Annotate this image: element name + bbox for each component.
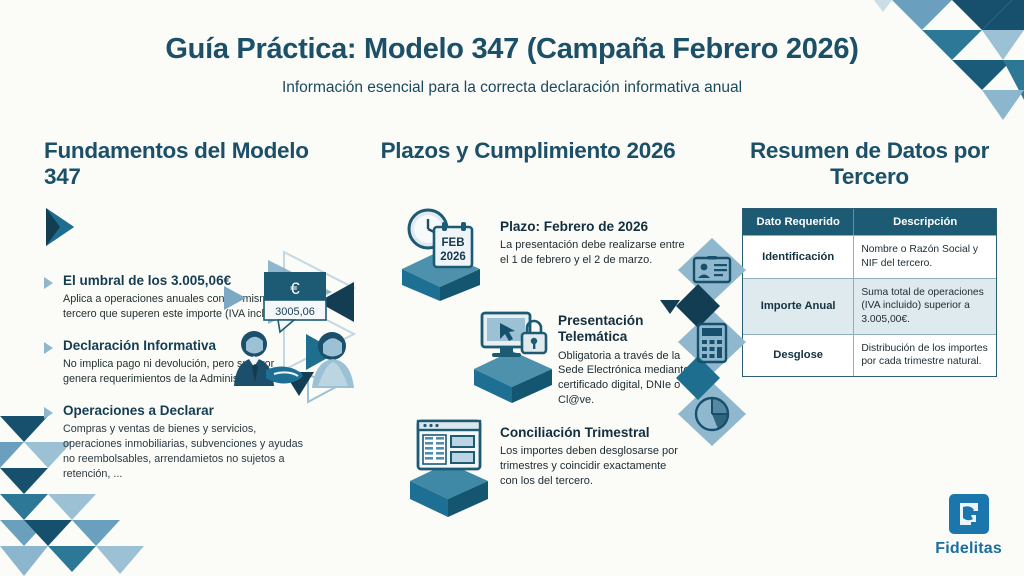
triangle-bullet-icon [44, 407, 53, 419]
table-cell-label: Identificación [743, 236, 854, 277]
list-item-title: Declaración Informativa [63, 338, 309, 354]
middle-item-telematica: Presentación Telemática Obligatoria a tr… [478, 305, 698, 408]
middle-item-plazo: FEB 2026 Plazo: Febrero de 2026 La prese… [400, 205, 696, 301]
calendar-clock-icon: FEB 2026 [400, 205, 492, 301]
svg-text:2026: 2026 [440, 251, 466, 263]
middle-item-title: Presentación Telemática [558, 313, 698, 346]
summary-table: Dato Requerido Descripción Identificació… [742, 208, 997, 377]
column-fundamentos: Fundamentos del Modelo 347 El umbral de … [44, 138, 309, 498]
brand-logo: Fidelitas [935, 494, 1002, 558]
list-item: El umbral de los 3.005,06€ Aplica a oper… [44, 273, 309, 322]
list-item-body: No implica pago ni devolución, pero su e… [63, 357, 309, 387]
list-item-body: Aplica a operaciones anuales con un mism… [63, 292, 309, 322]
table-cell-label: Desglose [743, 335, 854, 376]
column-heading-middle: Plazos y Cumplimiento 2026 [378, 138, 678, 164]
column-resumen: Resumen de Datos por Tercero Dato Requer… [742, 138, 997, 377]
page-title: Guía Práctica: Modelo 347 (Campaña Febre… [0, 34, 1024, 66]
column-heading-right: Resumen de Datos por Tercero [742, 138, 997, 190]
spreadsheet-illustration [400, 413, 500, 524]
table-header-row: Dato Requerido Descripción [743, 209, 996, 235]
table-row: Desglose Distribución de los importes po… [743, 334, 996, 376]
decorative-play-arrow [46, 206, 309, 253]
table-cell-description: Nombre o Razón Social y NIF del tercero. [854, 236, 996, 277]
list-item-body: Compras y ventas de bienes y servicios, … [63, 422, 309, 482]
table-cell-description: Suma total de operaciones (IVA incluido)… [854, 279, 996, 334]
play-arrow-icon [46, 206, 94, 248]
table-header-dato: Dato Requerido [743, 209, 854, 235]
table-row: Importe Anual Suma total de operaciones … [743, 278, 996, 334]
fidelitas-monogram-icon [949, 494, 989, 534]
middle-item-body: Obligatoria a través de la Sede Electrón… [558, 349, 698, 408]
list-item: Declaración Informativa No implica pago … [44, 338, 309, 387]
svg-text:FEB: FEB [442, 237, 465, 249]
page-subtitle: Información esencial para la correcta de… [0, 79, 1024, 97]
bullet-list-left: El umbral de los 3.005,06€ Aplica a oper… [44, 273, 309, 482]
column-plazos: Plazos y Cumplimiento 2026 [378, 138, 678, 164]
middle-item-conciliacion: Conciliación Trimestral Los importes deb… [500, 425, 686, 489]
middle-item-body: La presentación debe realizarse entre el… [500, 238, 696, 268]
brand-name: Fidelitas [935, 540, 1002, 558]
logo-glyph [954, 499, 984, 529]
column-heading-left: Fundamentos del Modelo 347 [44, 138, 309, 190]
list-item-title: El umbral de los 3.005,06€ [63, 273, 309, 289]
table-header-descripcion: Descripción [854, 209, 996, 235]
table-cell-description: Distribución de los importes por cada tr… [854, 335, 996, 376]
middle-item-body: Los importes deben desglosarse por trime… [500, 444, 686, 489]
middle-item-title: Plazo: Febrero de 2026 [500, 219, 696, 235]
list-item-title: Operaciones a Declarar [63, 403, 309, 419]
calendar-clock-illustration: FEB 2026 [400, 205, 492, 301]
triangle-bullet-icon [44, 342, 53, 354]
spreadsheet-window-icon [400, 413, 500, 519]
triangle-bullet-icon [44, 277, 53, 289]
list-item: Operaciones a Declarar Compras y ventas … [44, 403, 309, 482]
middle-item-title: Conciliación Trimestral [500, 425, 686, 441]
table-cell-label: Importe Anual [743, 279, 854, 334]
table-row: Identificación Nombre o Razón Social y N… [743, 235, 996, 277]
header: Guía Práctica: Modelo 347 (Campaña Febre… [0, 34, 1024, 97]
